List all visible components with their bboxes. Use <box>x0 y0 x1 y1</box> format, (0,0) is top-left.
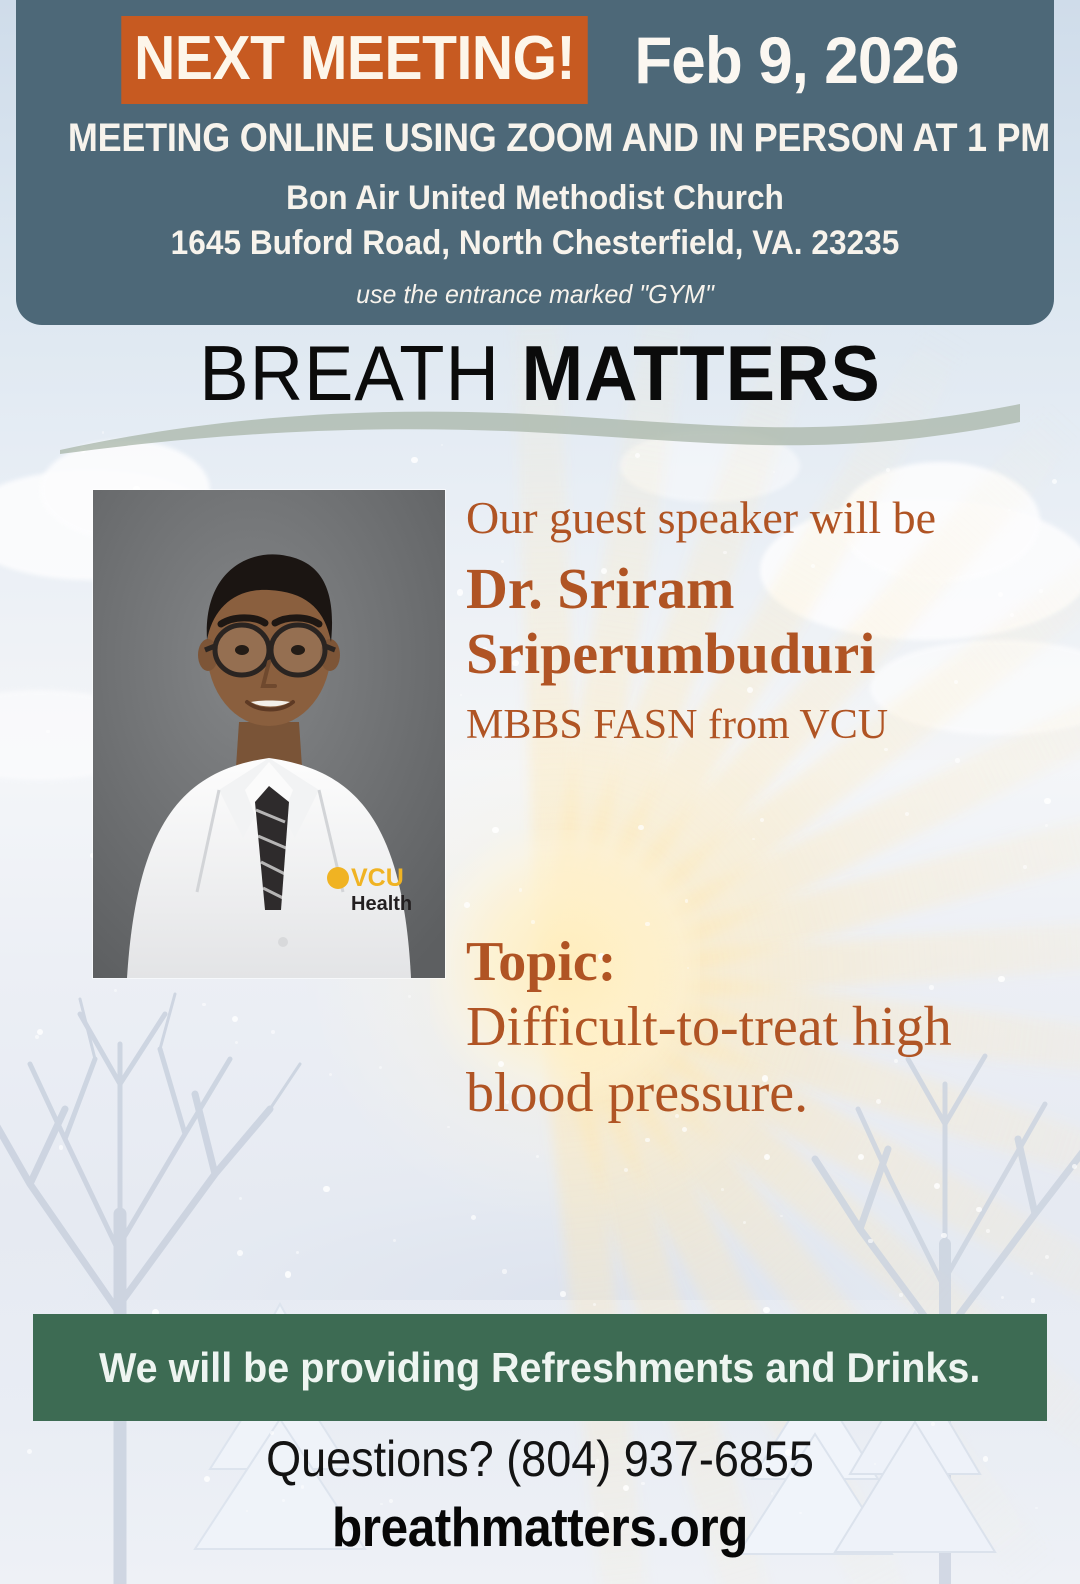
website-link[interactable]: breathmatters.org <box>54 1495 1026 1559</box>
speaker-portrait-illustration: VCU Health <box>93 490 445 978</box>
next-meeting-badge: NEXT MEETING! <box>121 16 588 104</box>
speaker-name: Dr. Sriram Sriperumbuduri <box>466 556 1056 687</box>
meeting-modality-line: MEETING ONLINE USING ZOOM AND IN PERSON … <box>68 116 1002 161</box>
speaker-info-block: Our guest speaker will be Dr. Sriram Sri… <box>466 492 1056 749</box>
refreshments-text: We will be providing Refreshments and Dr… <box>99 1344 980 1392</box>
svg-text:Health: Health <box>351 893 412 915</box>
venue-address: 1645 Buford Road, North Chesterfield, VA… <box>52 224 1017 263</box>
topic-label: Topic: <box>466 932 1066 994</box>
entrance-note: use the entrance marked "GYM" <box>37 279 1033 310</box>
flyer-poster: NEXT MEETING! Feb 9, 2026 MEETING ONLINE… <box>0 0 1080 1584</box>
questions-phone-text: Questions? (804) 937-6855 <box>54 1430 1026 1488</box>
header-title-row: NEXT MEETING! Feb 9, 2026 <box>16 0 1054 104</box>
svg-text:VCU: VCU <box>351 864 404 892</box>
speaker-credentials: MBBS FASN from VCU <box>466 701 1056 749</box>
meeting-header-panel: NEXT MEETING! Feb 9, 2026 MEETING ONLINE… <box>16 0 1054 325</box>
venue-name: Bon Air United Methodist Church <box>52 179 1017 218</box>
topic-text: Difficult-to-treat high blood pressure. <box>466 994 1066 1126</box>
speaker-intro-text: Our guest speaker will be <box>466 492 1056 544</box>
topic-block: Topic: Difficult-to-treat high blood pre… <box>466 932 1066 1126</box>
breath-matters-logo: BREATH MATTERS <box>0 334 1080 464</box>
refreshments-banner: We will be providing Refreshments and Dr… <box>33 1314 1047 1421</box>
meeting-date: Feb 9, 2026 <box>634 27 958 93</box>
speaker-photo: VCU Health <box>93 490 445 978</box>
logo-swoosh-icon <box>58 400 1022 458</box>
